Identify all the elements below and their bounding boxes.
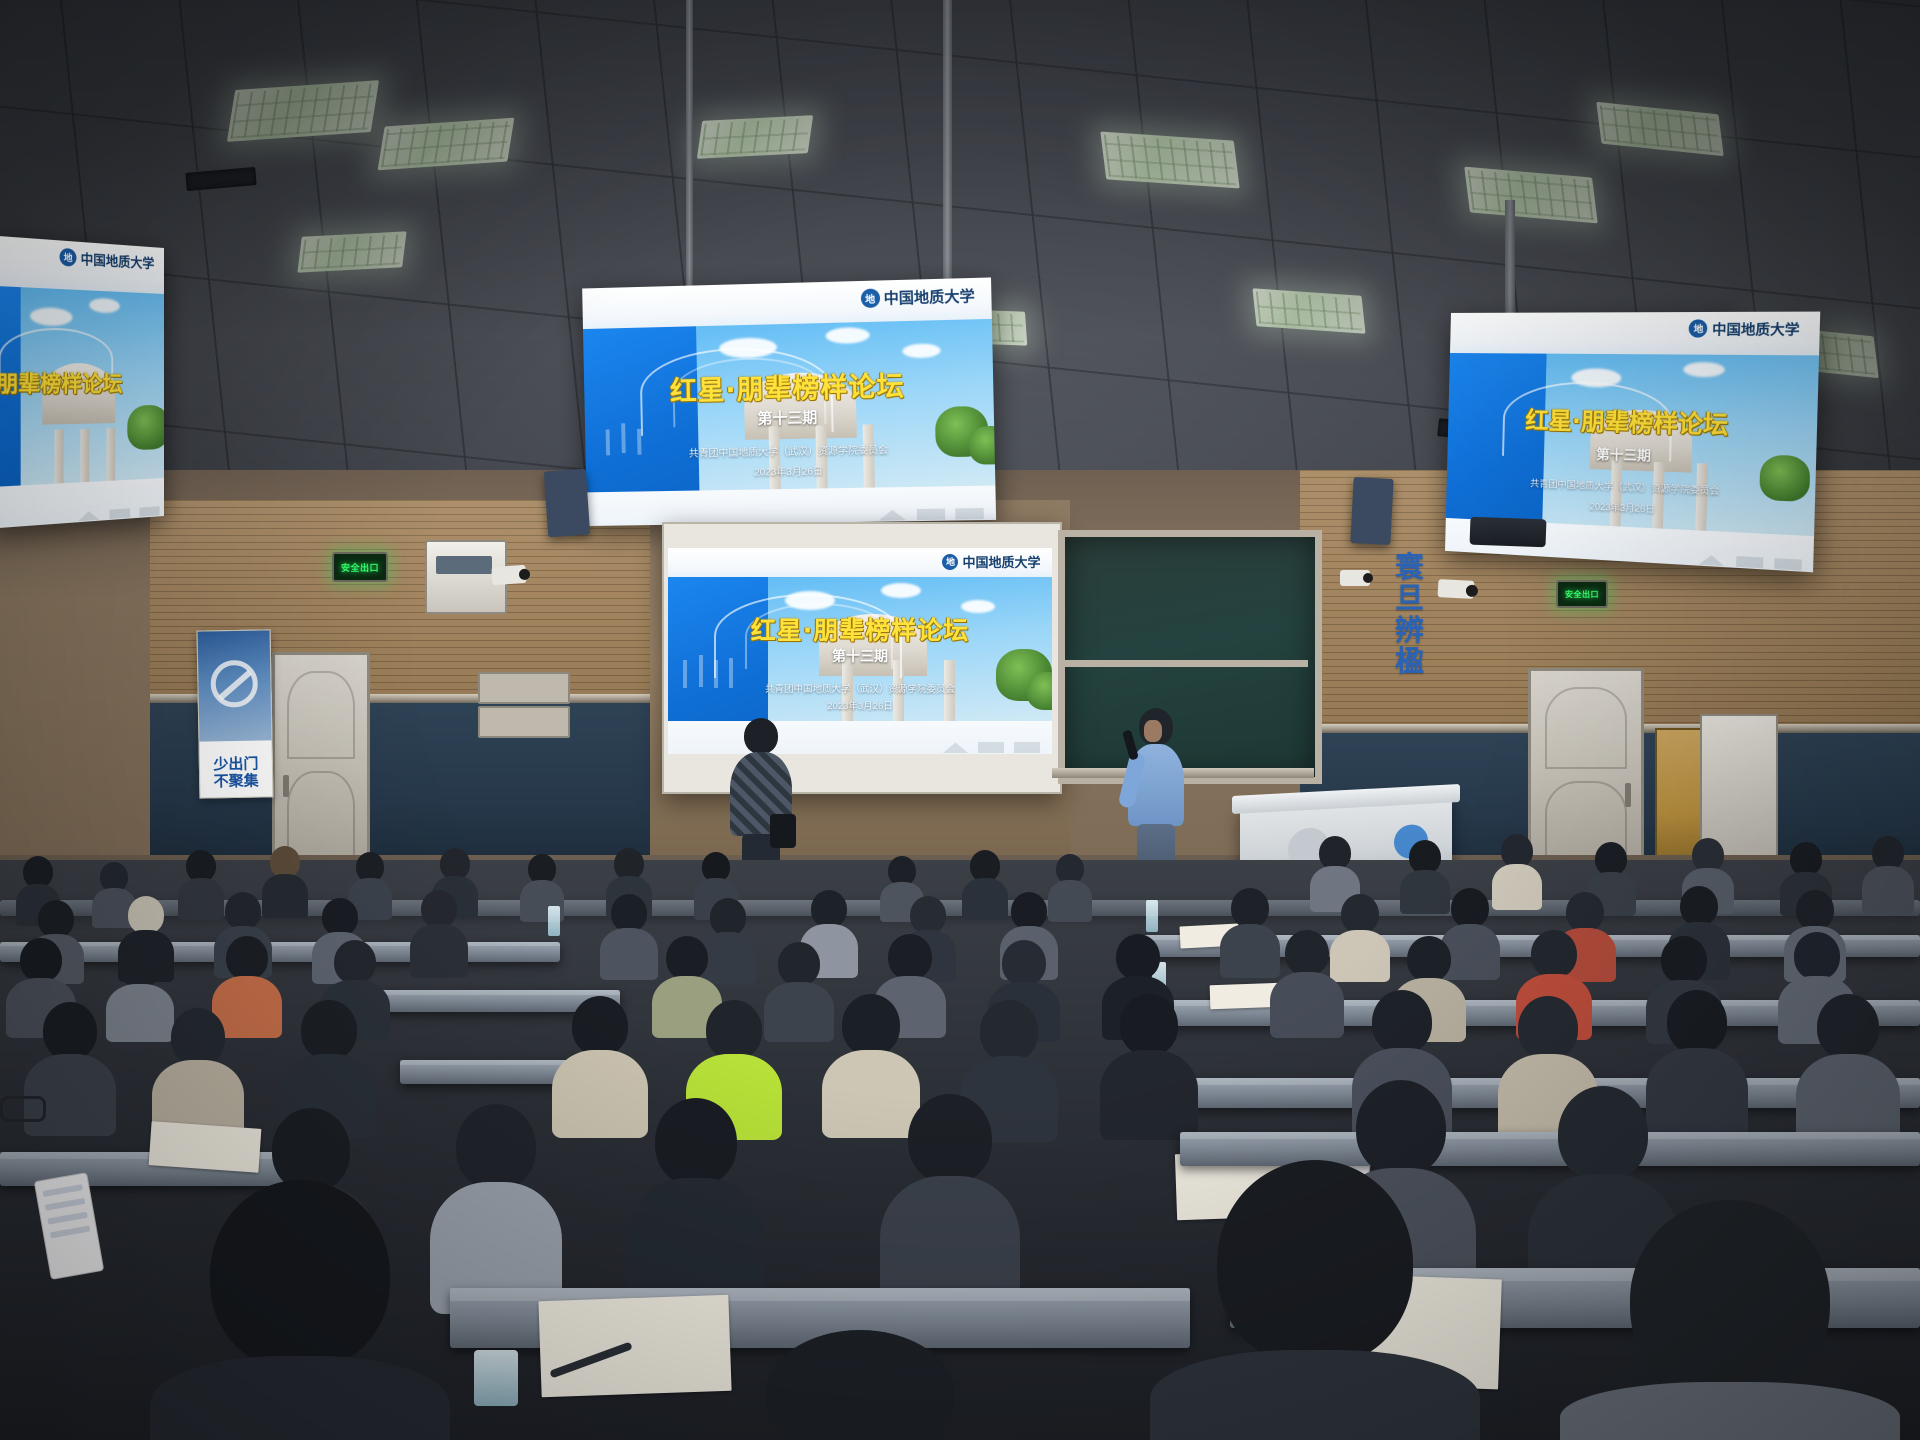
- audience-head: [1319, 836, 1351, 870]
- logo-mark-icon: 地: [1689, 320, 1708, 338]
- audience-head: [888, 934, 932, 980]
- center-hanging-monitor[interactable]: 地 中国地质大学: [582, 277, 996, 526]
- door-panel: [287, 671, 355, 759]
- water-cup: [474, 1350, 518, 1406]
- university-logo: 地 中国地质大学: [1689, 318, 1800, 339]
- audience-head: [225, 892, 261, 930]
- logo-text: 中国地质大学: [883, 284, 975, 308]
- audience-head: [1817, 994, 1879, 1060]
- left-monitor-title: 红星·朋辈榜样论坛: [0, 366, 148, 400]
- footer-logo-icon: [139, 507, 159, 517]
- poster-text: 少出门 不聚集: [200, 755, 273, 791]
- cloud-shape-icon: [881, 583, 921, 598]
- security-camera-center: [1340, 570, 1370, 586]
- footer-logo-icon: [78, 511, 99, 522]
- audience-member: [1100, 994, 1198, 1136]
- slide-body: 红星·朋辈榜样论坛 第十三期 共青团中国地质大学（武汉）资源学院委员会 2023…: [668, 577, 1052, 721]
- door-handle[interactable]: [283, 775, 289, 797]
- audience-head: [1231, 888, 1269, 928]
- audience-head: [1790, 842, 1822, 876]
- footer-logo-icon: [1774, 558, 1802, 570]
- audience-head: [20, 938, 62, 982]
- poster-line-2: 不聚集: [200, 772, 272, 791]
- audience-head: [301, 1000, 357, 1060]
- audience-member: [410, 890, 468, 972]
- logo-text: 中国地质大学: [1712, 318, 1800, 339]
- audience-member-foreground: [1150, 1160, 1480, 1440]
- main-projection-screen[interactable]: 地 中国地质大学: [668, 548, 1052, 754]
- university-logo: 地 中国地质大学: [860, 284, 975, 308]
- audience-head: [611, 894, 647, 932]
- audience-head: [1120, 994, 1178, 1056]
- audience-head: [1002, 940, 1046, 986]
- audience-body: [150, 1356, 450, 1440]
- health-poster: 少出门 不聚集: [197, 629, 274, 798]
- audience-head: [811, 890, 847, 928]
- ceiling-projector: [1470, 517, 1547, 548]
- audience-head: [1680, 886, 1718, 926]
- footer-logo-icon: [1698, 554, 1725, 566]
- eyeglasses: [0, 1096, 46, 1122]
- audience-member: [628, 1098, 764, 1310]
- audience-head: [456, 1104, 536, 1190]
- audience-head: [765, 1330, 955, 1440]
- assistant-head: [744, 718, 778, 754]
- audience-member: [1796, 994, 1900, 1144]
- footer-logo-icon: [1014, 742, 1040, 753]
- exit-sign-right: 安全出口: [1556, 580, 1608, 608]
- calligraphy-char: 寰: [1395, 552, 1424, 583]
- audience-head: [1595, 842, 1627, 876]
- audience-head: [421, 890, 457, 928]
- slide-body: 红星·朋辈榜样论坛 第十三期 共青团中国地质大学（武汉）资源学院委员会 2023…: [583, 319, 995, 493]
- cloud-shape-icon: [903, 343, 942, 358]
- door-handle[interactable]: [1625, 783, 1631, 807]
- wall-speaker-right: [1350, 477, 1393, 545]
- audience-member: [152, 1008, 244, 1136]
- lecture-hall-photo: 寰 旦 辨 楹 地 中国地质大学: [0, 0, 1920, 1440]
- audience-head: [334, 940, 376, 984]
- audience-head: [1372, 990, 1432, 1054]
- audience-member: [1862, 836, 1914, 910]
- footer-logo-icon: [942, 742, 968, 753]
- footer-logo-icon: [1736, 556, 1763, 568]
- logo-text: 中国地质大学: [962, 552, 1040, 571]
- audience-head: [38, 900, 74, 938]
- building-column: [54, 429, 63, 484]
- poster-image: [198, 630, 272, 741]
- projection-slide: 地 中国地质大学: [668, 548, 1052, 754]
- footer-logo-icon: [878, 509, 906, 520]
- door-panel: [1545, 687, 1627, 769]
- phone-screen-row: [43, 1184, 83, 1197]
- audience-body: [1270, 972, 1344, 1038]
- footer-logo-icon: [916, 509, 945, 521]
- wall-outlet-box: [478, 672, 570, 704]
- blackboard-divider: [1058, 660, 1308, 667]
- phone-screen-row: [50, 1225, 90, 1238]
- audience-member-foreground: [150, 1180, 450, 1440]
- building-column: [81, 428, 90, 482]
- audience-body: [1862, 866, 1914, 914]
- audience-member: [880, 1094, 1020, 1312]
- slide-body: 红星·朋辈榜样论坛: [0, 285, 164, 488]
- ac-panel-screen: [436, 556, 492, 574]
- footer-logo-icon: [109, 509, 130, 520]
- projection-organizer: 共青团中国地质大学（武汉）资源学院委员会: [668, 681, 1052, 695]
- audience-head: [1566, 892, 1604, 932]
- water-bottle: [548, 906, 560, 936]
- cloud-shape-icon: [89, 298, 120, 314]
- phone-screen-row: [47, 1212, 87, 1225]
- audience-head: [1531, 930, 1577, 978]
- audience-head: [171, 1008, 225, 1066]
- cloud-shape-icon: [30, 307, 72, 326]
- audience-head: [778, 942, 820, 986]
- wall-outlet-box: [478, 706, 570, 738]
- audience-head: [910, 896, 946, 934]
- audience-body: [600, 928, 658, 980]
- cloud-shape-icon: [1683, 362, 1725, 377]
- audience-head: [842, 994, 900, 1056]
- audience-head: [908, 1094, 992, 1184]
- audience-member-foreground: [1560, 1200, 1900, 1440]
- audience-head: [1692, 838, 1724, 872]
- audience-body: [1560, 1382, 1900, 1440]
- audience-head: [43, 1002, 97, 1060]
- desk-edge: [380, 990, 620, 995]
- audience-head: [1285, 930, 1329, 976]
- audience-head: [1217, 1160, 1413, 1366]
- audience-head: [322, 898, 358, 936]
- desk-edge: [450, 1288, 1190, 1301]
- university-logo: 地 中国地质大学: [942, 552, 1040, 571]
- slide-footer-band: [668, 721, 1052, 754]
- building-column: [107, 428, 116, 482]
- audience-head: [128, 896, 164, 934]
- slide-header-band: 地 中国地质大学: [1450, 312, 1820, 356]
- projection-title: 红星·朋辈榜样论坛: [668, 611, 1052, 647]
- phone-screen-row: [45, 1198, 85, 1211]
- audience-head: [1667, 990, 1727, 1054]
- audience-member-foreground: [700, 1330, 1020, 1440]
- no-gathering-icon: [210, 659, 258, 707]
- camera-lens-icon: [1363, 573, 1373, 583]
- audience-head: [1407, 936, 1451, 982]
- audience-body: [24, 1054, 116, 1136]
- logo-text: 中国地质大学: [81, 249, 155, 273]
- assistant-bag: [770, 814, 796, 848]
- audience-head: [119, 944, 161, 988]
- university-logo: 地 中国地质大学: [60, 247, 155, 273]
- blackboard: [1058, 530, 1322, 784]
- water-bottle: [1146, 900, 1158, 932]
- security-camera-right: [1438, 579, 1475, 599]
- slide-footer-band: [586, 486, 996, 526]
- audience-body: [1100, 1050, 1198, 1140]
- speaker-face: [1144, 720, 1162, 742]
- audience-head: [1558, 1086, 1648, 1182]
- projection-subtitle: 第十三期: [668, 646, 1052, 666]
- footer-logo-group: [942, 742, 1040, 753]
- projection-date: 2023年3月26日: [668, 698, 1052, 712]
- audience-head: [1116, 934, 1160, 980]
- logo-mark-icon: 地: [860, 288, 880, 308]
- calligraphy-char: 辨: [1395, 615, 1424, 646]
- audience-head: [210, 1180, 390, 1370]
- audience-member: [600, 894, 658, 974]
- cloud-shape-icon: [825, 327, 869, 344]
- notebook-paper: [149, 1121, 262, 1173]
- footer-logo-group: [878, 508, 983, 521]
- audience-member: [1270, 930, 1344, 1034]
- tree-shape: [127, 404, 164, 449]
- security-camera-left: [491, 565, 526, 585]
- slide-body: 红星·朋辈榜样论坛 第十三期 共青团中国地质大学（武汉）资源学院委员会 2023…: [1446, 353, 1819, 535]
- calligraphy-char: 旦: [1395, 583, 1424, 614]
- audience-head: [666, 936, 708, 980]
- audience-head: [1341, 894, 1379, 934]
- audience-head: [1630, 1200, 1830, 1400]
- wall-speaker-left: [544, 469, 591, 538]
- wall-calligraphy: 寰 旦 辨 楹: [1395, 552, 1424, 677]
- exit-sign-left: 安全出口: [332, 552, 388, 582]
- audience-head: [655, 1098, 737, 1186]
- exit-sign-text: 安全出口: [341, 561, 379, 574]
- audience-head: [1872, 836, 1904, 870]
- audience-head: [1409, 840, 1441, 874]
- exit-sign-text: 安全出口: [1565, 589, 1599, 600]
- audience-head: [1451, 888, 1489, 928]
- audience-head: [1518, 996, 1578, 1060]
- audience-body: [410, 924, 468, 978]
- calligraphy-char: 楹: [1395, 646, 1424, 677]
- slide-header-band: 地 中国地质大学: [668, 548, 1052, 577]
- audience-head: [1661, 936, 1707, 984]
- audience-head: [980, 1000, 1038, 1062]
- audience-head: [572, 996, 628, 1056]
- logo-mark-icon: 地: [942, 554, 958, 570]
- footer-logo-icon: [955, 508, 984, 520]
- left-monitor-slide: 地 中国地质大学 红星·朋辈榜样论坛: [0, 235, 164, 529]
- poster-line-1: 少出门: [200, 755, 272, 774]
- audience-head: [1501, 834, 1533, 868]
- audience-body: [1150, 1350, 1480, 1440]
- audience-head: [1796, 890, 1834, 930]
- left-wall-monitor[interactable]: 地 中国地质大学 红星·朋辈榜样论坛: [0, 235, 164, 529]
- footer-logo-icon: [978, 742, 1004, 753]
- center-monitor-slide: 地 中国地质大学: [582, 277, 996, 526]
- audience-head: [226, 936, 268, 980]
- logo-mark-icon: 地: [60, 248, 77, 267]
- audience-head: [706, 1000, 762, 1060]
- audience-head: [710, 898, 746, 936]
- audience-head: [1011, 892, 1047, 930]
- audience-head: [1794, 932, 1840, 980]
